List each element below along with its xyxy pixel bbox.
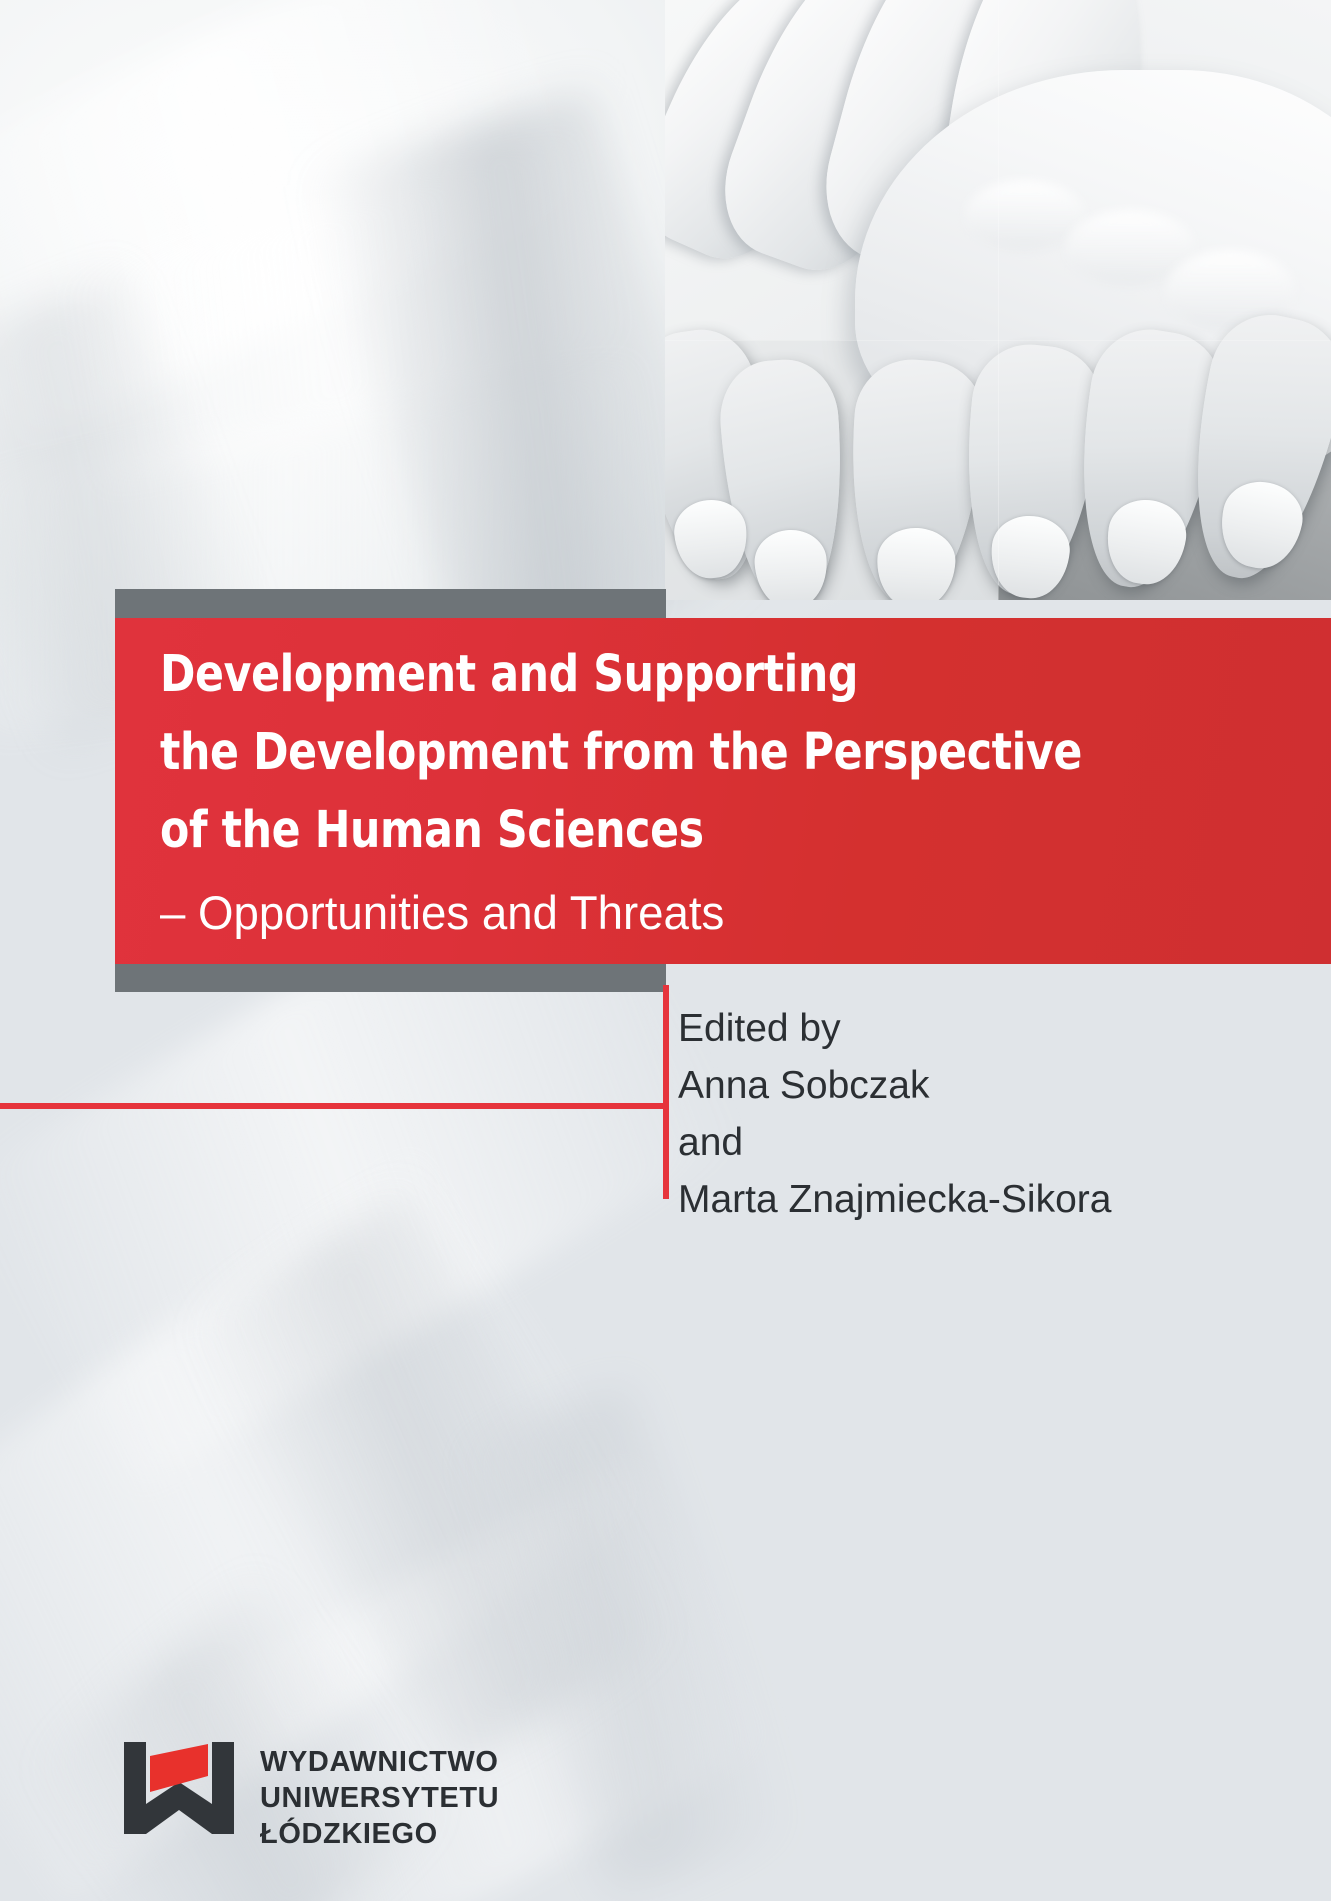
publisher-line-2: UNIWERSYTETU (260, 1780, 499, 1816)
photo-seam (998, 0, 999, 600)
gray-bar-above-title (115, 589, 666, 618)
university-of-lodz-press-mark-icon (124, 1742, 234, 1834)
book-cover: Development and Supporting the Developme… (0, 0, 1331, 1901)
gray-bar-below-title (115, 964, 666, 992)
publisher-name: WYDAWNICTWO UNIWERSYTETU ŁÓDZKIEGO (260, 1742, 499, 1852)
editors-conjunction: and (678, 1114, 1298, 1171)
title-line-3: of the Human Sciences (160, 792, 1220, 870)
photo-seam (665, 340, 1331, 341)
publisher-line-1: WYDAWNICTWO (260, 1744, 499, 1780)
title-line-2: the Development from the Perspective (160, 714, 1220, 792)
editor-name-1: Anna Sobczak (678, 1057, 1298, 1114)
edited-by-label: Edited by (678, 1000, 1298, 1057)
editors-block: Edited by Anna Sobczak and Marta Znajmie… (678, 1000, 1298, 1228)
red-vertical-rule (663, 985, 669, 1199)
red-horizontal-rule (0, 1103, 666, 1109)
title-line-1: Development and Supporting (160, 636, 1220, 714)
page-title: Development and Supporting the Developme… (160, 636, 1300, 952)
publisher-logo: WYDAWNICTWO UNIWERSYTETU ŁÓDZKIEGO (124, 1742, 499, 1852)
hands-photo (665, 0, 1331, 600)
subtitle: – Opportunities and Threats (160, 874, 1266, 952)
publisher-line-3: ŁÓDZKIEGO (260, 1816, 499, 1852)
editor-name-2: Marta Znajmiecka-Sikora (678, 1171, 1298, 1228)
